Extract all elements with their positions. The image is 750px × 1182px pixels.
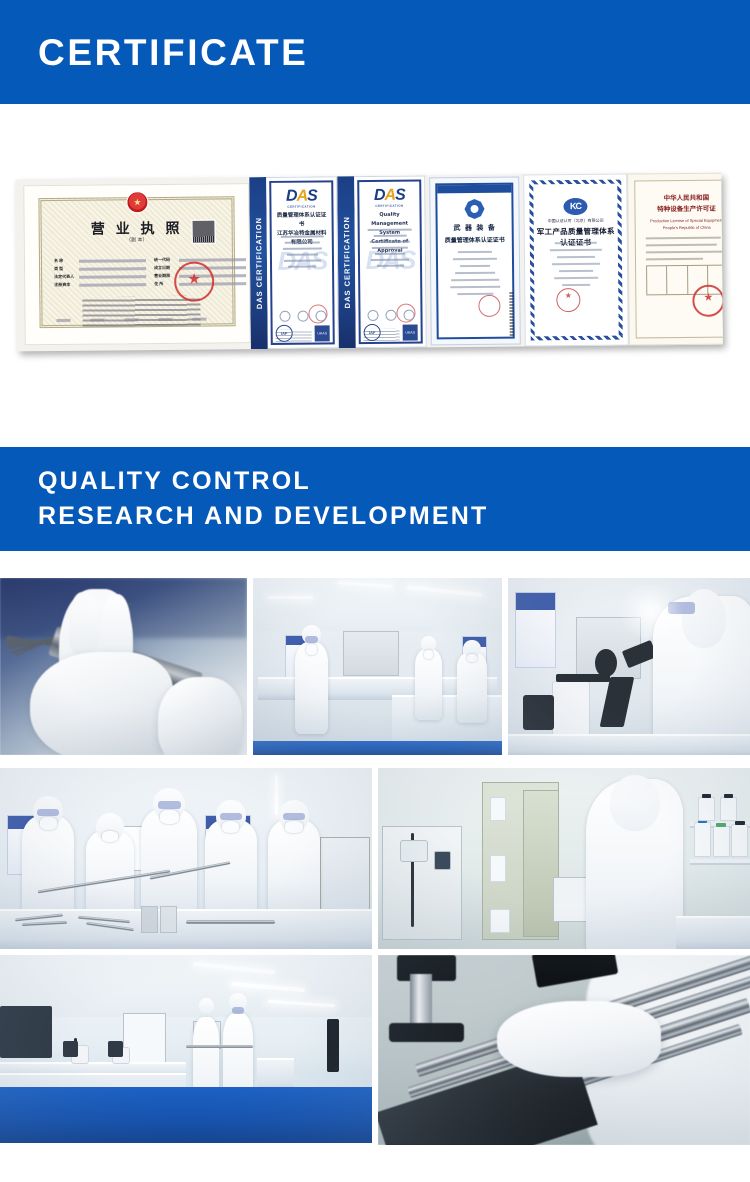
das-body: DAS CERTIFICATION Quality Management Sys…	[354, 175, 427, 348]
page-title: CERTIFICATE	[38, 34, 308, 71]
wqms-body-lines	[447, 251, 503, 301]
certificate-military-product-qms[interactable]: KC 中国认证认可（北京）有限公司 军工产品质量管理体系认证证书	[523, 174, 629, 347]
das-logo-subtext: CERTIFICATION	[354, 203, 424, 208]
das-body-lines	[277, 235, 327, 271]
license-field-value	[79, 267, 146, 271]
das-headline-cn: 质量管理体系认证证书	[275, 211, 329, 230]
license-field-value	[79, 259, 146, 263]
prod-title-cn-line1: 中华人民共和国	[639, 192, 722, 204]
das-spine-text: DAS CERTIFICATION	[342, 216, 352, 308]
photo-team-inspection[interactable]	[0, 768, 372, 949]
hexagon-flower-icon	[464, 199, 484, 219]
photo-analytical-lab-content	[378, 768, 750, 949]
das-signature-row	[275, 310, 329, 322]
wqms-top-bar	[437, 185, 511, 194]
national-emblem-icon	[126, 191, 148, 213]
certificate-special-equipment-license[interactable]: 中华人民共和国 特种设备生产许可证 Production License of …	[627, 173, 723, 346]
photo-microscope-operator-content	[508, 578, 750, 755]
kc-logo-icon: KC	[563, 198, 587, 215]
barcode-icon	[509, 292, 513, 336]
license-field-label: 统一代码	[154, 256, 176, 264]
prod-body-lines	[646, 237, 723, 266]
prod-title-cn-line2: 特种设备生产许可证	[639, 203, 722, 215]
license-field-value	[79, 283, 146, 287]
mil-body-lines	[546, 242, 606, 292]
photo-wire-bundle[interactable]	[0, 578, 247, 755]
photo-cleanroom-lab[interactable]	[253, 578, 502, 755]
prod-frame: 中华人民共和国 特种设备生产许可证 Production License of …	[634, 179, 723, 338]
quality-banner-line1: QUALITY CONTROL	[38, 464, 750, 499]
license-field-label: 名 称	[54, 257, 76, 265]
iaf-badge-icon: IAF	[276, 325, 293, 342]
photo-rod-measurement[interactable]	[378, 955, 750, 1145]
das-footer-badges: IAF UKAS	[364, 324, 418, 342]
photo-cleanroom-lab-content	[253, 578, 502, 755]
license-field-value	[79, 275, 146, 279]
prod-title-en-line2: People's Republic of China	[642, 224, 723, 232]
das-logo-icon: DAS CERTIFICATION	[354, 186, 424, 208]
license-fields-left: 名 称 类 型 法定代表人 注册资本	[54, 256, 146, 289]
certificate-business-license[interactable]: 营 业 执 照 （副 本） 名 称 类 型 法定代表人 注册资本 统一代码 成立…	[23, 183, 251, 345]
license-field-label: 类 型	[54, 265, 76, 273]
iaf-badge-icon: IAF	[364, 324, 381, 341]
photo-team-inspection-content	[0, 768, 372, 949]
das-body: DAS CERTIFICATION 质量管理体系认证证书 江苏华冶特金属材料有限…	[266, 176, 339, 349]
license-red-seal	[174, 261, 214, 301]
license-field-label: 成立日期	[154, 264, 176, 272]
qr-code-icon	[192, 219, 216, 243]
wqms-subtitle: 质量管理体系认证证书	[442, 235, 508, 245]
das-spine-text: DAS CERTIFICATION	[254, 217, 264, 309]
photo-cleanroom-corridor[interactable]	[0, 955, 372, 1143]
certificate-banner: CERTIFICATE	[0, 0, 750, 104]
ukas-badge-icon: UKAS	[315, 325, 330, 341]
photo-microscope-operator[interactable]	[508, 578, 750, 755]
photo-wire-bundle-content	[0, 578, 247, 755]
prod-red-seal	[692, 285, 723, 317]
license-field-label: 法定代表人	[54, 273, 76, 281]
license-field-value	[179, 258, 246, 262]
photo-rod-measurement-content	[378, 955, 750, 1145]
das-body-lines	[365, 229, 415, 271]
certificate-das-chinese[interactable]: DAS CERTIFICATION DAS CERTIFICATION 质量管理…	[249, 176, 339, 349]
license-scope-text	[82, 296, 200, 327]
license-field-label: 注册资本	[54, 281, 76, 289]
mil-red-seal	[556, 288, 580, 312]
license-inner-frame: 营 业 执 照 （副 本） 名 称 类 型 法定代表人 注册资本 统一代码 成立…	[38, 196, 235, 328]
ukas-badge-icon: UKAS	[403, 325, 418, 341]
das-footer-badges: IAF UKAS	[276, 324, 330, 342]
certificate-weapon-equipment-qms[interactable]: 武 器 装 备 质量管理体系认证证书	[429, 177, 521, 346]
quality-banner-line2: RESEARCH AND DEVELOPMENT	[38, 499, 750, 534]
prod-title-cn: 中华人民共和国 特种设备生产许可证	[639, 192, 722, 215]
das-logo-subtext: CERTIFICATION	[266, 204, 336, 209]
quality-control-banner: QUALITY CONTROL RESEARCH AND DEVELOPMENT	[0, 447, 750, 551]
certificate-das-english[interactable]: DAS CERTIFICATION DAS CERTIFICATION Qual…	[337, 175, 427, 348]
das-spine-label: DAS CERTIFICATION	[337, 176, 356, 348]
das-spine-label: DAS CERTIFICATION	[249, 177, 268, 349]
photo-analytical-lab[interactable]	[378, 768, 750, 949]
certificate-gallery: 营 业 执 照 （副 本） 名 称 类 型 法定代表人 注册资本 统一代码 成立…	[15, 173, 723, 352]
mil-organization: 中国认证认可（北京）有限公司	[538, 218, 614, 225]
mil-ornate-border: KC 中国认证认可（北京）有限公司 军工产品质量管理体系认证证书	[529, 180, 623, 341]
wqms-frame: 武 器 装 备 质量管理体系认证证书	[435, 183, 514, 340]
license-field-label: 营业期限	[154, 272, 176, 280]
wqms-title: 武 器 装 备	[442, 223, 508, 234]
wqms-red-seal	[478, 295, 500, 317]
license-field-label: 住 所	[154, 280, 176, 288]
prod-title-en: Production License of Special Equipment …	[642, 217, 723, 232]
das-logo-icon: DAS CERTIFICATION	[266, 187, 336, 209]
das-signature-row	[363, 310, 417, 322]
photo-cleanroom-corridor-content	[0, 955, 372, 1143]
